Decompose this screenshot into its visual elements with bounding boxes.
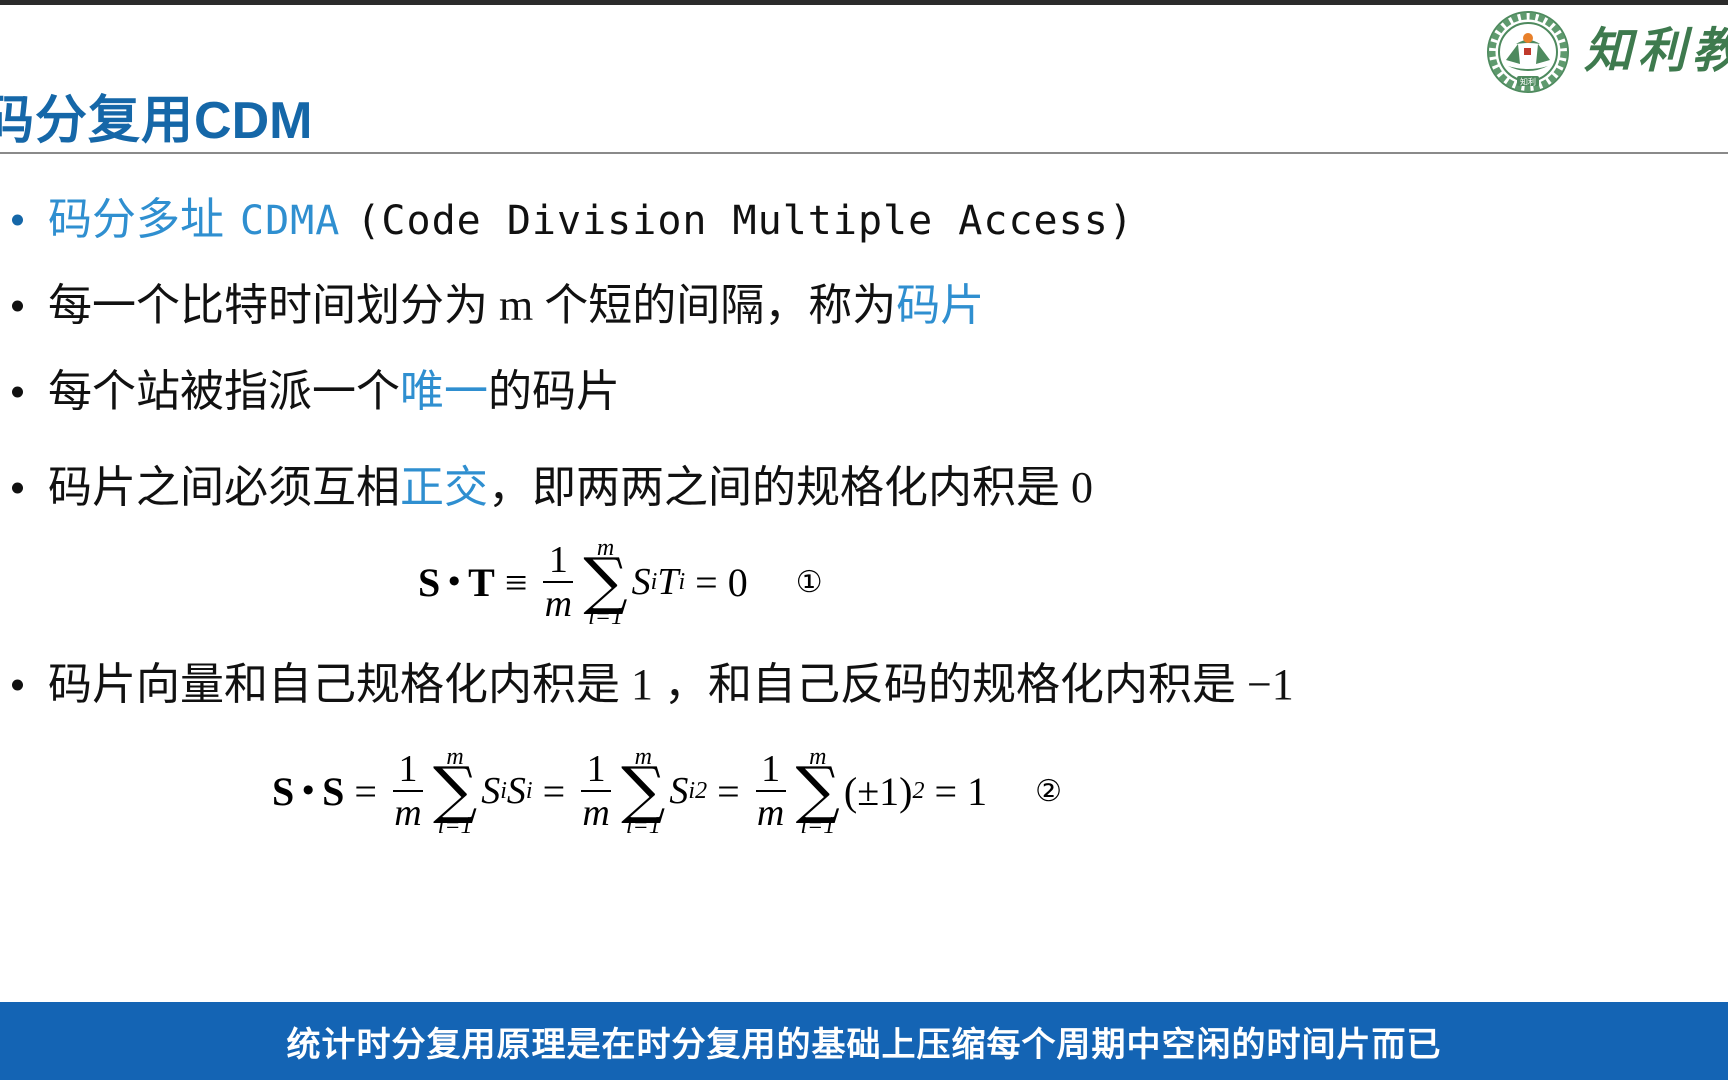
formula1-dot-operator: • [440, 563, 468, 601]
formula1-frac-denominator: m [545, 583, 572, 623]
brand-name: 知利教育 [1584, 28, 1728, 76]
formula1-result: 0 [728, 559, 748, 606]
formula2-fraction-1: 1 m [393, 750, 423, 832]
bullet-cdma-cn: 码分多址 [48, 195, 224, 244]
formula2-term-s2: S [507, 769, 526, 813]
formula1-summation: m ∑ i=1 [583, 536, 627, 629]
formula2-equals-3: = [707, 768, 750, 815]
formula2-vector-s2: S [322, 768, 344, 815]
page-title-latin: CDM [194, 92, 312, 150]
formula2-frac3-denominator: m [757, 792, 784, 832]
bullet-orthogonal-pre: 码片之间必须互相 [48, 463, 400, 512]
bullet-bit-interval: 每一个比特时间划分为 m 个短的间隔，称为码片 [0, 284, 984, 328]
bullet-self-product: 码片向量和自己规格化内积是 1 ，和自己反码的规格化内积是 −1 [0, 663, 1294, 707]
formula2-frac1-denominator: m [394, 792, 421, 832]
formula1-sigma-glyph: ∑ [583, 556, 627, 607]
bullet-unique-chip-post: 的码片 [488, 367, 620, 416]
top-accent-strip [0, 0, 1728, 5]
bullet-unique-chip-highlight: 唯一 [400, 367, 488, 416]
formula2-fraction-2: 1 m [581, 750, 611, 832]
formula1-reference-marker: ① [796, 565, 823, 600]
formula2-sum1-lower-limit: i=1 [438, 814, 473, 838]
bullet-orthogonal: 码片之间必须互相正交，即两两之间的规格化内积是 0 [0, 466, 1093, 510]
formula2-term-s2-subscript: i [526, 778, 533, 805]
formula2-term-squared-subscript: i [688, 778, 695, 805]
formula1-equiv-sign: ≡ [495, 559, 538, 606]
formula2-plus-minus-term: (±1) [844, 768, 913, 815]
formula2-sum3-lower-limit: i=1 [800, 814, 835, 838]
formula1-equals-sign: = [685, 559, 728, 606]
formula2-frac2-numerator: 1 [587, 750, 606, 790]
bullet-bit-interval-highlight: 码片 [896, 281, 984, 330]
formula2-term-squared-exponent: 2 [695, 778, 707, 805]
page-title: 码分复用CDM [0, 78, 312, 153]
formula2-sum2-lower-limit: i=1 [626, 814, 661, 838]
formula2-plus-minus-exponent: 2 [913, 778, 925, 805]
formula2-sum1-sigma-glyph: ∑ [433, 765, 477, 816]
formula2-sum3-sigma-glyph: ∑ [796, 765, 840, 816]
formula2-equals-4: = [925, 768, 968, 815]
formula2-sum2-sigma-glyph: ∑ [621, 765, 665, 816]
formula2-summation-1: m ∑ i=1 [433, 745, 477, 838]
formula2-dot-operator: • [294, 772, 322, 810]
formula1-term-t-subscript: i [678, 569, 685, 596]
formula1-fraction: 1 m [543, 541, 573, 623]
page-title-cn: 码分复用 [0, 92, 194, 150]
formula2-equals-1: = [344, 768, 387, 815]
formula1-term-s: S [632, 560, 651, 604]
bullet-cdma-expansion: (Code Division Multiple Access) [356, 198, 1134, 244]
formula2-term-s1-subscript: i [500, 778, 507, 805]
formula1-sum-lower-limit: i=1 [588, 605, 623, 629]
formula2-summation-2: m ∑ i=1 [621, 745, 665, 838]
formula1-vector-s: S [418, 559, 440, 606]
bullet-cdma-abbr: CDMA [240, 198, 340, 244]
bullet-self-product-text: 码片向量和自己规格化内积是 1 ，和自己反码的规格化内积是 −1 [48, 660, 1294, 709]
formula2-term-squared: S [669, 769, 688, 813]
formula2-result: 1 [967, 768, 987, 815]
formula1-term-s-subscript: i [651, 569, 658, 596]
bottom-banner: 统计时分复用原理是在时分复用的基础上压缩每个周期中空闲的时间片而已 [0, 1002, 1728, 1080]
bullet-orthogonal-post: ，即两两之间的规格化内积是 0 [488, 463, 1093, 512]
formula1-vector-t: T [468, 559, 495, 606]
bullet-bit-interval-pre: 每一个比特时间划分为 m 个短的间隔，称为 [48, 281, 896, 330]
formula2-reference-marker: ② [1035, 774, 1062, 809]
formula-orthogonality: S • T ≡ 1 m m ∑ i=1 Si Ti = 0 ① [418, 536, 823, 629]
bullet-unique-chip: 每个站被指派一个唯一的码片 [0, 370, 620, 414]
formula-self-product: S • S = 1 m m ∑ i=1 Si Si = 1 m m ∑ i=1 … [272, 745, 1062, 838]
formula1-term-t: T [657, 560, 678, 604]
formula1-frac-numerator: 1 [549, 541, 568, 581]
formula2-equals-2: = [533, 768, 576, 815]
bullet-cdma: 码分多址CDMA(Code Division Multiple Access) [0, 198, 1134, 242]
formula2-term-s1: S [481, 769, 500, 813]
formula2-frac1-numerator: 1 [398, 750, 417, 790]
zhili-emblem-icon: 知利 [1486, 10, 1570, 94]
bottom-banner-text: 统计时分复用原理是在时分复用的基础上压缩每个周期中空闲的时间片而已 [287, 1017, 1442, 1066]
bullet-orthogonal-highlight: 正交 [400, 463, 488, 512]
title-divider [0, 152, 1728, 154]
formula2-summation-3: m ∑ i=1 [796, 745, 840, 838]
formula2-frac2-denominator: m [582, 792, 609, 832]
formula2-frac3-numerator: 1 [761, 750, 780, 790]
brand-logo: 知利 知利教育 [1486, 6, 1728, 98]
formula2-fraction-3: 1 m [756, 750, 786, 832]
bullet-unique-chip-pre: 每个站被指派一个 [48, 367, 400, 416]
svg-text:知利: 知利 [1520, 77, 1536, 87]
formula2-vector-s1: S [272, 768, 294, 815]
